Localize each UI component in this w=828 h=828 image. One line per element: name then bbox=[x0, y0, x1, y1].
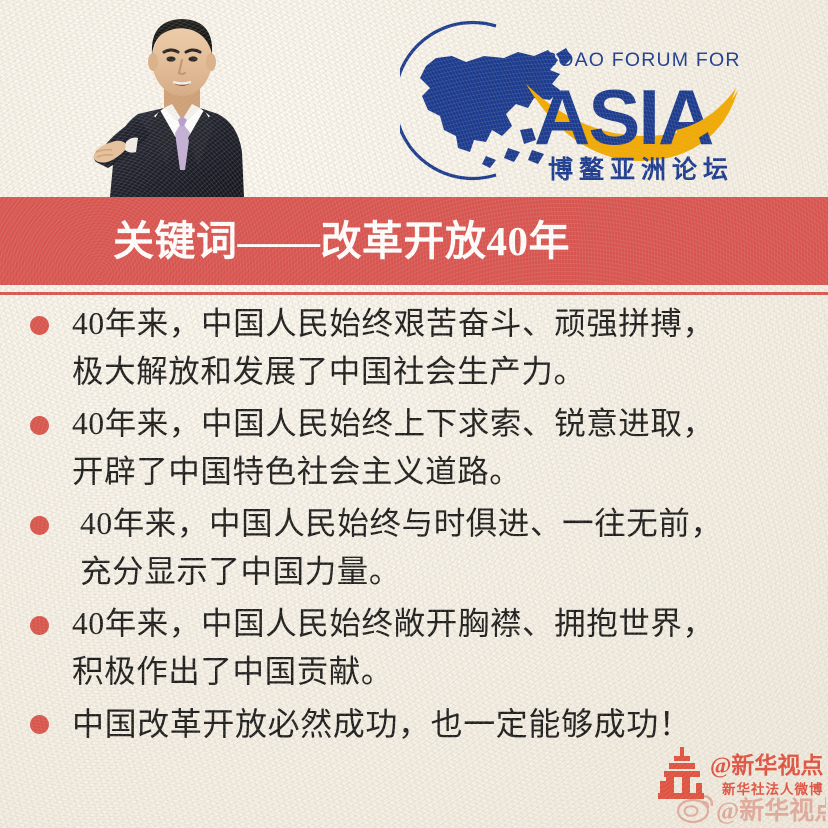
page-title: 关键词——改革开放40年 bbox=[113, 221, 570, 262]
bullet-dot-icon bbox=[30, 316, 49, 335]
poster-header: BOAO FORUM FOR ASIA 博鳌亚洲论坛 bbox=[0, 0, 828, 197]
weibo-icon bbox=[678, 796, 712, 822]
list-item-line: 中国改革开放必然成功，也一定能够成功！ bbox=[72, 700, 800, 748]
list-item-text: 40年来，中国人民始终上下求索、锐意进取， 开辟了中国特色社会主义道路。 bbox=[72, 400, 800, 496]
bullet-dot-icon bbox=[30, 416, 49, 435]
speaker-portrait bbox=[92, 2, 292, 197]
svg-text:@新华视点: @新华视点 bbox=[716, 796, 826, 825]
list-item: 40年来，中国人民始终敞开胸襟、拥抱世界， 积极作出了中国贡献。 bbox=[30, 600, 800, 696]
weibo-watermark: @新华视点 bbox=[676, 790, 826, 826]
svg-text:@新华视点: @新华视点 bbox=[710, 752, 823, 779]
list-item-text: 中国改革开放必然成功，也一定能够成功！ bbox=[72, 700, 800, 748]
list-item-text: 40年来，中国人民始终敞开胸襟、拥抱世界， 积极作出了中国贡献。 bbox=[72, 600, 800, 696]
list-item-line: 40年来，中国人民始终与时俱进、一往无前， bbox=[72, 500, 800, 548]
list-item-line: 极大解放和发展了中国社会生产力。 bbox=[72, 348, 800, 396]
list-item-text: 40年来，中国人民始终与时俱进、一往无前， 充分显示了中国力量。 bbox=[72, 500, 800, 596]
list-item-line: 开辟了中国特色社会主义道路。 bbox=[72, 448, 800, 496]
bullet-dot-icon bbox=[30, 715, 49, 734]
list-item-line: 40年来，中国人民始终上下求索、锐意进取， bbox=[72, 400, 800, 448]
boao-forum-for-asia-logo: BOAO FORUM FOR ASIA 博鳌亚洲论坛 bbox=[400, 18, 740, 183]
list-item-line: 充分显示了中国力量。 bbox=[72, 548, 800, 596]
bullet-dot-icon bbox=[30, 516, 49, 535]
bullet-dot-icon bbox=[30, 616, 49, 635]
list-item: 40年来，中国人民始终与时俱进、一往无前， 充分显示了中国力量。 bbox=[30, 500, 800, 596]
list-item: 40年来，中国人民始终艰苦奋斗、顽强拼搏， 极大解放和发展了中国社会生产力。 bbox=[30, 300, 800, 396]
list-item: 中国改革开放必然成功，也一定能够成功！ bbox=[30, 700, 800, 748]
list-item-line: 40年来，中国人民始终艰苦奋斗、顽强拼搏， bbox=[72, 300, 800, 348]
list-item-line: 40年来，中国人民始终敞开胸襟、拥抱世界， bbox=[72, 600, 800, 648]
list-item-line: 积极作出了中国贡献。 bbox=[72, 648, 800, 696]
svg-text:博鳌亚洲论坛: 博鳌亚洲论坛 bbox=[548, 156, 734, 183]
svg-text:BOAO FORUM FOR: BOAO FORUM FOR bbox=[544, 49, 740, 71]
banner-underline-rule bbox=[0, 292, 828, 295]
list-item-text: 40年来，中国人民始终艰苦奋斗、顽强拼搏， 极大解放和发展了中国社会生产力。 bbox=[72, 300, 800, 396]
poster-canvas: BOAO FORUM FOR ASIA 博鳌亚洲论坛 关键词——改革开放40年 … bbox=[0, 0, 828, 828]
svg-text:ASIA: ASIA bbox=[534, 73, 713, 161]
headline-banner: 关键词——改革开放40年 bbox=[0, 197, 828, 285]
list-item: 40年来，中国人民始终上下求索、锐意进取， 开辟了中国特色社会主义道路。 bbox=[30, 400, 800, 496]
bullet-list: 40年来，中国人民始终艰苦奋斗、顽强拼搏， 极大解放和发展了中国社会生产力。 4… bbox=[0, 300, 828, 730]
